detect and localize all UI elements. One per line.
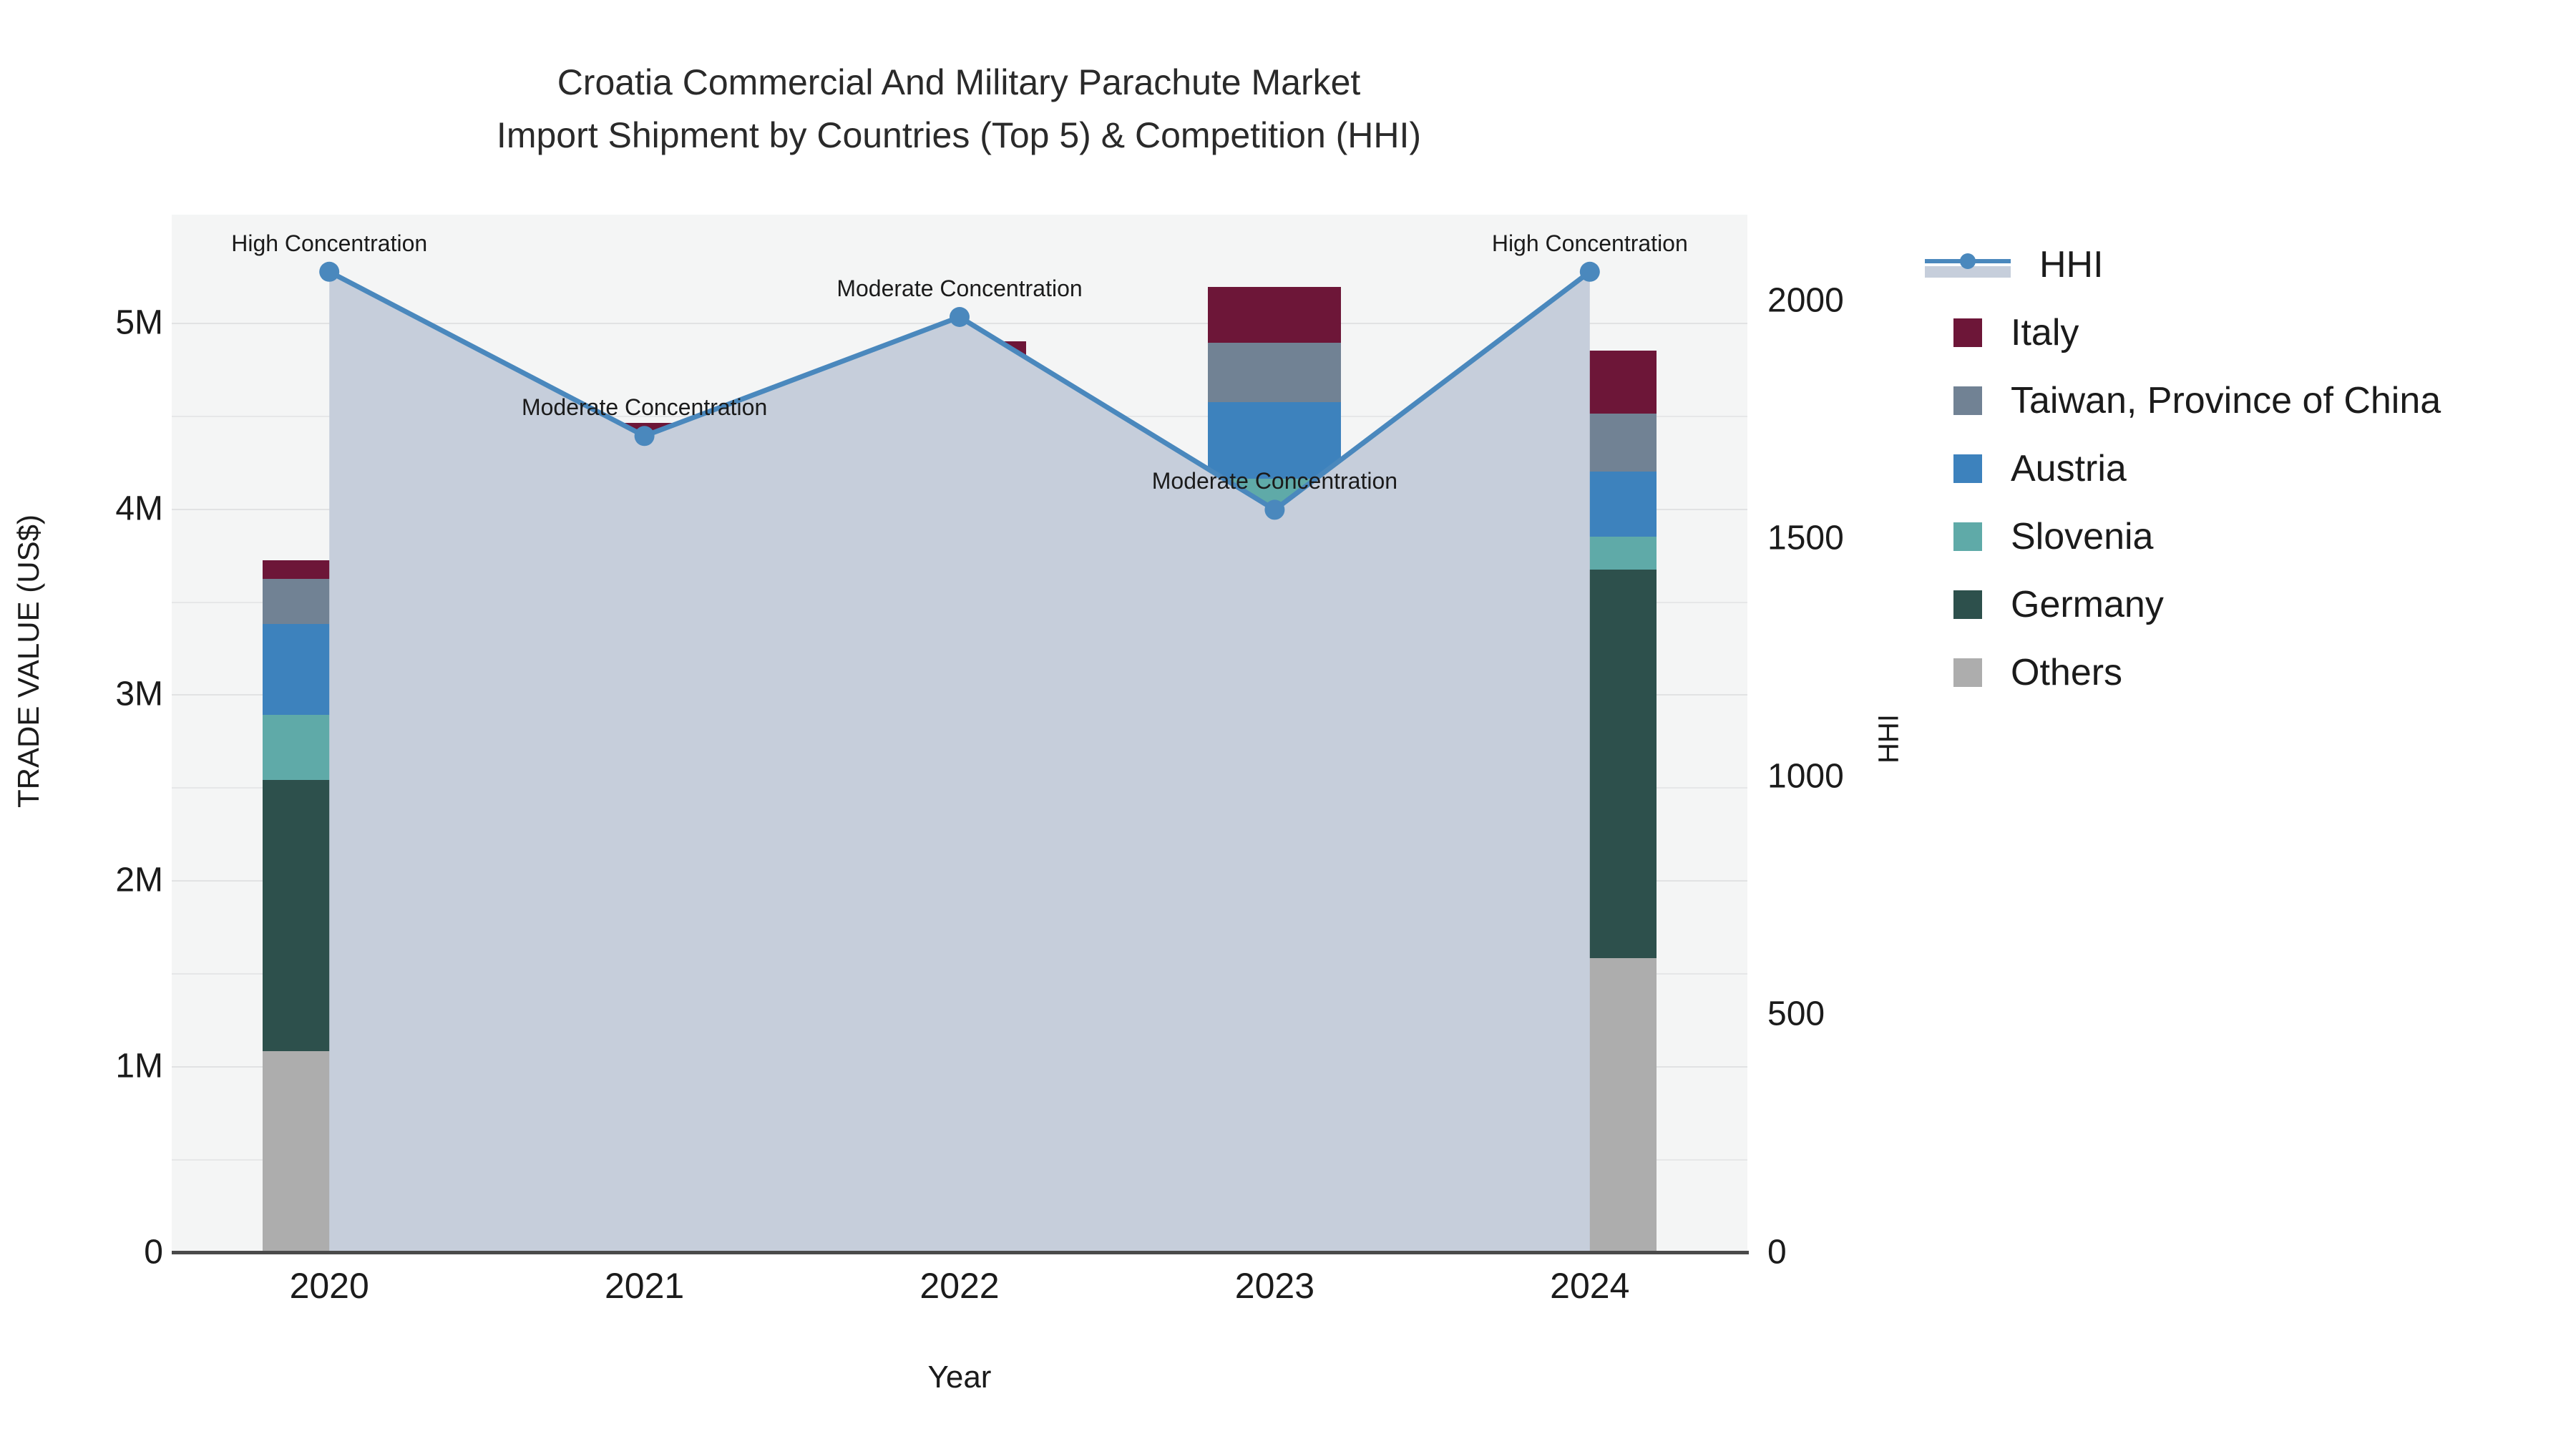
- legend-item[interactable]: HHI: [1925, 230, 2441, 298]
- bar-segment[interactable]: [893, 466, 1026, 527]
- legend-item-label: HHI: [2039, 243, 2104, 286]
- legend-color-swatch: [1953, 454, 1982, 483]
- bar-segment[interactable]: [1523, 958, 1657, 1252]
- legend-item[interactable]: Austria: [1925, 434, 2441, 502]
- bar-segment[interactable]: [1523, 537, 1657, 570]
- bar-segment[interactable]: [893, 341, 1026, 419]
- bar-segment[interactable]: [893, 618, 1026, 992]
- x-axis-tick: 2021: [605, 1265, 684, 1307]
- y-axis-left-label: TRADE VALUE (US$): [11, 411, 46, 912]
- bar-group[interactable]: [1523, 215, 1657, 1252]
- bar-segment[interactable]: [263, 560, 396, 579]
- legend-item-label: Slovenia: [2011, 515, 2153, 558]
- bar-segment[interactable]: [578, 637, 711, 936]
- legend-item[interactable]: Taiwan, Province of China: [1925, 366, 2441, 434]
- x-axis-tick: 2020: [290, 1265, 369, 1307]
- y-axis-left-tick: 2M: [115, 861, 163, 900]
- concentration-annotation: High Concentration: [1492, 230, 1688, 257]
- concentration-annotation: Moderate Concentration: [522, 394, 767, 421]
- legend-item[interactable]: Others: [1925, 638, 2441, 706]
- legend-color-swatch: [1953, 522, 1982, 551]
- bar-segment[interactable]: [1523, 414, 1657, 472]
- bar-segment[interactable]: [263, 780, 396, 1051]
- concentration-annotation: High Concentration: [231, 230, 427, 257]
- page-title: Croatia Commercial And Military Parachut…: [0, 56, 1918, 162]
- bar-group[interactable]: [263, 215, 396, 1252]
- plot-area: High ConcentrationModerate Concentration…: [172, 215, 1747, 1252]
- bar-segment[interactable]: [263, 1051, 396, 1252]
- bar-segment[interactable]: [578, 466, 711, 527]
- legend-item[interactable]: Italy: [1925, 298, 2441, 366]
- legend-color-swatch: [1953, 590, 1982, 619]
- bar-segment[interactable]: [578, 936, 711, 1252]
- bar-group[interactable]: [578, 215, 711, 1252]
- x-axis-tick: 2024: [1550, 1265, 1629, 1307]
- x-axis-line: [172, 1251, 1749, 1254]
- concentration-annotation: Moderate Concentration: [1152, 468, 1397, 494]
- y-axis-left-tick: 0: [144, 1233, 163, 1272]
- y-axis-right-tick: 500: [1767, 995, 1825, 1034]
- bar-segment[interactable]: [1208, 843, 1341, 1252]
- y-axis-left-tick: 5M: [115, 303, 163, 342]
- legend-item[interactable]: Germany: [1925, 570, 2441, 638]
- bar-segment[interactable]: [263, 715, 396, 780]
- bar-group[interactable]: [893, 215, 1026, 1252]
- y-axis-right-tick: 1500: [1767, 519, 1844, 558]
- legend-item-label: Taiwan, Province of China: [2011, 379, 2441, 422]
- y-axis-left-tick: 3M: [115, 675, 163, 714]
- legend-item-label: Austria: [2011, 447, 2127, 490]
- y-axis-right-tick: 1000: [1767, 756, 1844, 796]
- legend-item-label: Others: [2011, 651, 2122, 694]
- concentration-annotation: Moderate Concentration: [836, 275, 1082, 302]
- legend-item-label: Italy: [2011, 311, 2079, 354]
- legend-color-swatch: [1953, 658, 1982, 687]
- bar-segment[interactable]: [1523, 472, 1657, 537]
- legend-item-label: Germany: [2011, 583, 2164, 626]
- y-axis-right-label: HHI: [1873, 632, 1906, 847]
- bar-segment[interactable]: [1208, 402, 1341, 479]
- bar-group[interactable]: [1208, 215, 1341, 1252]
- x-axis-tick: 2023: [1235, 1265, 1314, 1307]
- title-line-1: Croatia Commercial And Military Parachut…: [0, 56, 1918, 109]
- bar-segment[interactable]: [1208, 287, 1341, 343]
- legend-color-swatch: [1953, 318, 1982, 347]
- bar-segment[interactable]: [578, 423, 711, 441]
- bar-segment[interactable]: [1208, 535, 1341, 843]
- legend-item[interactable]: Slovenia: [1925, 502, 2441, 570]
- bar-segment[interactable]: [893, 992, 1026, 1252]
- x-axis-tick: 2022: [919, 1265, 999, 1307]
- bar-segment[interactable]: [578, 527, 711, 637]
- title-line-2: Import Shipment by Countries (Top 5) & C…: [0, 109, 1918, 162]
- chart-root: Croatia Commercial And Military Parachut…: [0, 0, 2576, 1449]
- bar-segment[interactable]: [893, 419, 1026, 466]
- legend: HHIItalyTaiwan, Province of ChinaAustria…: [1925, 230, 2441, 706]
- bar-segment[interactable]: [578, 441, 711, 466]
- legend-line-marker: [1960, 253, 1976, 269]
- bar-segment[interactable]: [263, 579, 396, 623]
- bar-segment[interactable]: [893, 527, 1026, 618]
- y-axis-left-tick: 1M: [115, 1047, 163, 1086]
- legend-color-swatch: [1953, 386, 1982, 415]
- y-axis-right-tick: 0: [1767, 1233, 1787, 1272]
- y-axis-left-tick: 4M: [115, 489, 163, 528]
- bar-segment[interactable]: [263, 624, 396, 715]
- bar-segment[interactable]: [1208, 343, 1341, 402]
- y-axis-right-tick: 2000: [1767, 280, 1844, 320]
- x-axis-label: Year: [172, 1360, 1747, 1395]
- bar-segment[interactable]: [1523, 351, 1657, 414]
- legend-line-swatch: [1925, 250, 2011, 279]
- bar-segment[interactable]: [1523, 570, 1657, 958]
